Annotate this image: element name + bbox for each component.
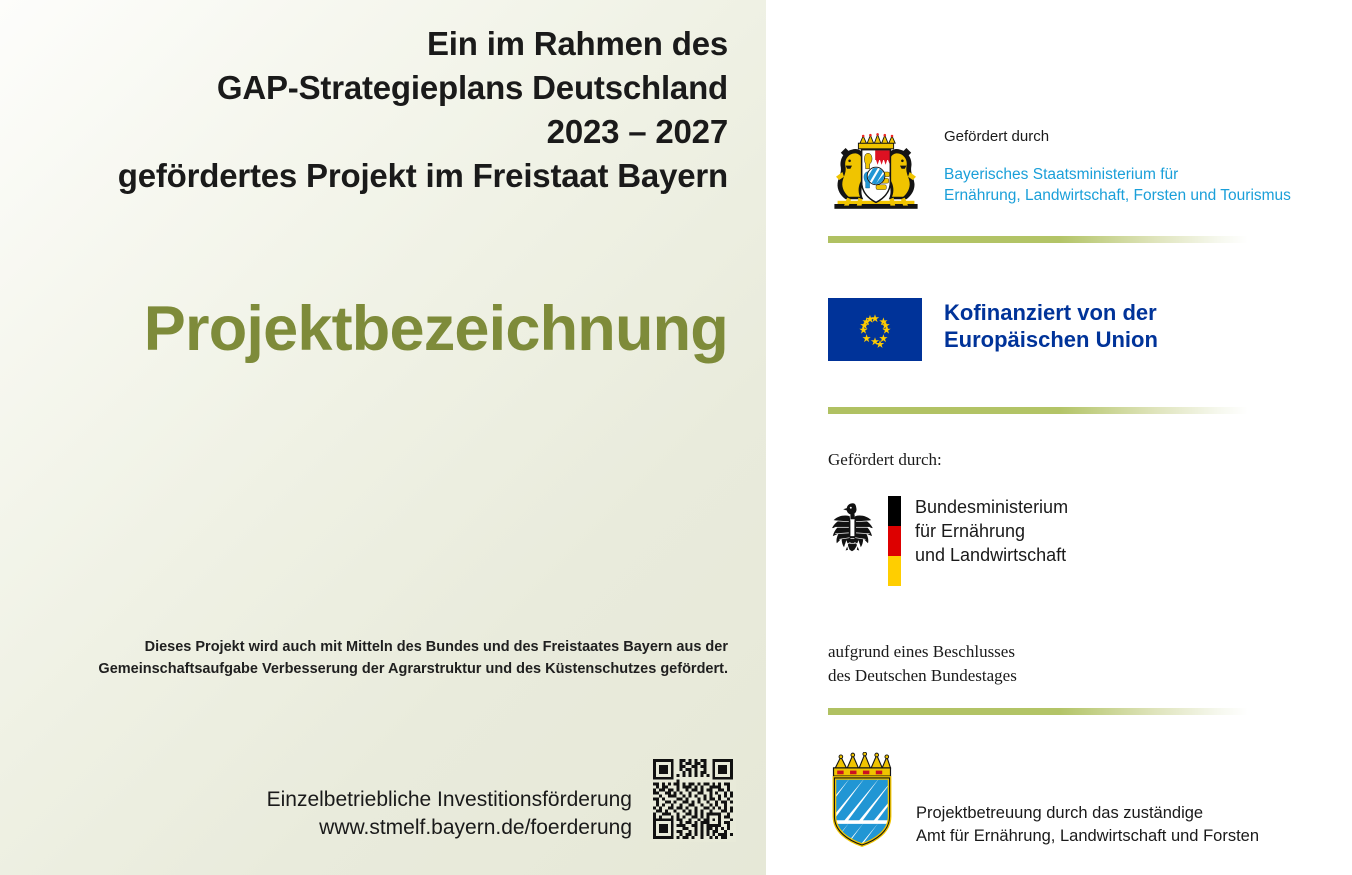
funding-footnote-line-1: Dieses Projekt wird auch mit Mitteln des… <box>28 636 728 658</box>
aelf-logo-block: Projektbetreuung durch das zuständige Am… <box>828 752 1259 853</box>
bmel-name-line-3: und Landwirtschaft <box>915 544 1068 568</box>
bmel-name-line-2: für Ernährung <box>915 520 1068 544</box>
stmelf-name-line-2: Ernährung, Landwirtschaft, Forsten und T… <box>944 185 1291 206</box>
bavarian-state-coat-of-arms-icon <box>828 132 924 217</box>
project-title: Projektbezeichnung <box>28 296 728 362</box>
federal-eagle-icon <box>828 500 876 558</box>
german-flag-bar-icon <box>888 496 901 586</box>
headline-block: Ein im Rahmen des GAP-Strategieplans Deu… <box>28 22 728 198</box>
eu-text-line-1: Kofinanziert von der <box>944 300 1158 327</box>
bmel-eyebrow: Gefördert durch: <box>828 450 942 470</box>
stmelf-logo-block: Gefördert durch Bayerisches Staatsminist… <box>828 126 1291 217</box>
aelf-text-line-1: Projektbetreuung durch das zuständige <box>916 802 1259 825</box>
bmel-footer-line-1: aufgrund eines Beschlusses <box>828 640 1017 664</box>
headline-line-4: gefördertes Projekt im Freistaat Bayern <box>28 154 728 198</box>
eu-logo-block: Kofinanziert von der Europäischen Union <box>828 298 1158 361</box>
scheme-block: Einzelbetriebliche Investitionsförderung… <box>0 784 766 864</box>
headline-line-2: GAP-Strategieplans Deutschland <box>28 66 728 110</box>
bmel-name: Bundesministerium für Ernährung und Land… <box>915 496 1068 568</box>
stmelf-name-line-1: Bayerisches Staatsministerium für <box>944 164 1291 185</box>
stmelf-name: Bayerisches Staatsministerium für Ernähr… <box>944 164 1291 207</box>
divider-1 <box>828 236 1248 243</box>
aelf-text: Projektbetreuung durch das zuständige Am… <box>916 752 1259 848</box>
funding-footnote-line-2: Gemeinschaftsaufgabe Verbesserung der Ag… <box>28 658 728 680</box>
project-sign-poster: Ein im Rahmen des GAP-Strategieplans Deu… <box>0 0 1352 875</box>
bmel-logo-block: Bundesministerium für Ernährung und Land… <box>828 496 1068 586</box>
headline-line-1: Ein im Rahmen des <box>28 22 728 66</box>
scheme-name: Einzelbetriebliche Investitionsförderung <box>267 786 632 814</box>
aelf-text-line-2: Amt für Ernährung, Landwirtschaft und Fo… <box>916 825 1259 848</box>
bmel-footer-line-2: des Deutschen Bundestages <box>828 664 1017 688</box>
scheme-text: Einzelbetriebliche Investitionsförderung… <box>267 784 632 842</box>
headline-line-3: 2023 – 2027 <box>28 110 728 154</box>
stmelf-texts: Gefördert durch Bayerisches Staatsminist… <box>944 126 1291 207</box>
qr-code-icon[interactable] <box>650 756 736 842</box>
stmelf-eyebrow: Gefördert durch <box>944 128 1291 146</box>
scheme-url[interactable]: www.stmelf.bayern.de/foerderung <box>267 814 632 842</box>
eu-text-line-2: Europäischen Union <box>944 327 1158 354</box>
right-column: Gefördert durch Bayerisches Staatsminist… <box>766 0 1352 875</box>
bavarian-shield-icon <box>828 752 896 853</box>
funding-footnote: Dieses Projekt wird auch mit Mitteln des… <box>28 636 728 681</box>
divider-2 <box>828 407 1248 414</box>
eu-text: Kofinanziert von der Europäischen Union <box>944 298 1158 354</box>
bmel-footer: aufgrund eines Beschlusses des Deutschen… <box>828 640 1017 688</box>
left-panel: Ein im Rahmen des GAP-Strategieplans Deu… <box>0 0 766 875</box>
bmel-name-line-1: Bundesministerium <box>915 496 1068 520</box>
european-union-flag-icon <box>828 298 922 361</box>
divider-3 <box>828 708 1248 715</box>
